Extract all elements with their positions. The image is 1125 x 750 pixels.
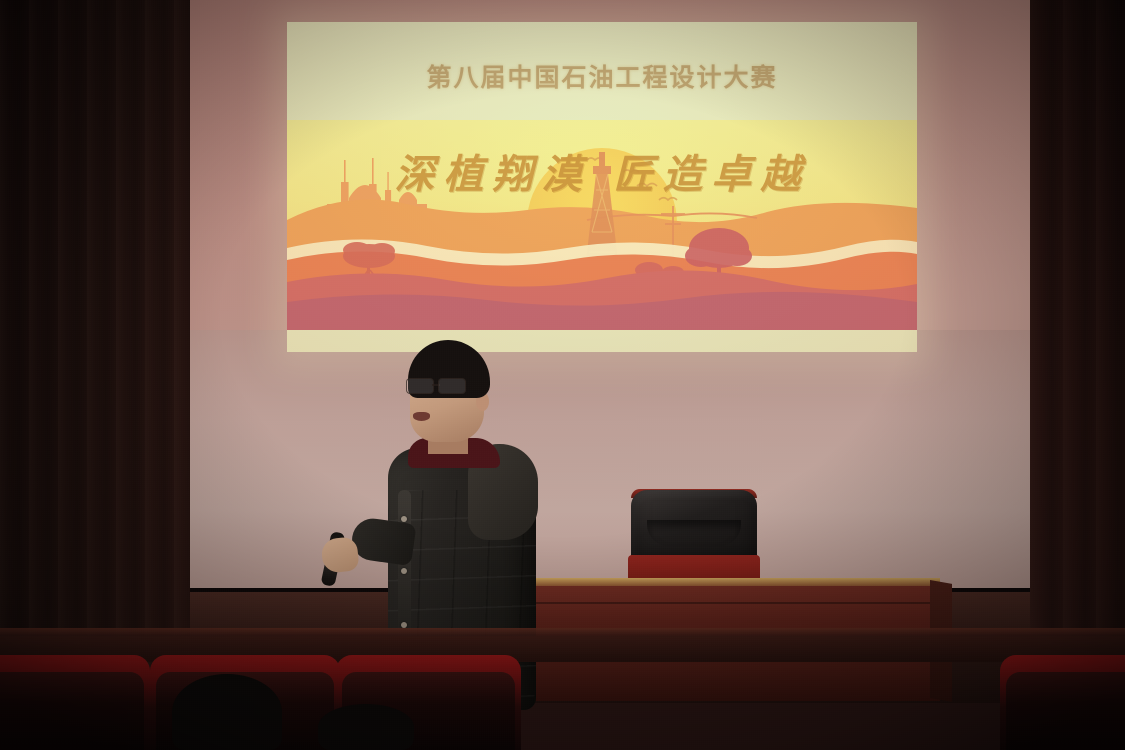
slide-title: 第八届中国石油工程设计大赛 xyxy=(287,58,917,94)
projected-slide: 第八届中国石油工程设计大赛 xyxy=(287,22,917,352)
desert-oilfield-illustration: 深植翔漠 匠造卓越 xyxy=(287,120,917,332)
slide-slogan: 深植翔漠 匠造卓越 xyxy=(287,142,917,200)
presentation-photo-scene: 第八届中国石油工程设计大赛 xyxy=(0,0,1125,750)
stage-curtain-right xyxy=(1030,0,1125,690)
eyeglasses-icon xyxy=(406,378,472,393)
audience-seat-shell xyxy=(1006,672,1125,750)
presenter-arm xyxy=(349,516,416,566)
audience-seat-row xyxy=(0,655,1125,750)
stage-curtain-left xyxy=(0,0,190,700)
audience-head xyxy=(318,704,414,750)
audience-seat-shell xyxy=(0,672,144,750)
jacket-snap xyxy=(401,568,407,574)
presenter-mouth xyxy=(413,412,430,421)
jacket-snap xyxy=(401,516,407,522)
eyeglasses-bridge xyxy=(432,384,440,386)
audience-head xyxy=(172,674,282,750)
